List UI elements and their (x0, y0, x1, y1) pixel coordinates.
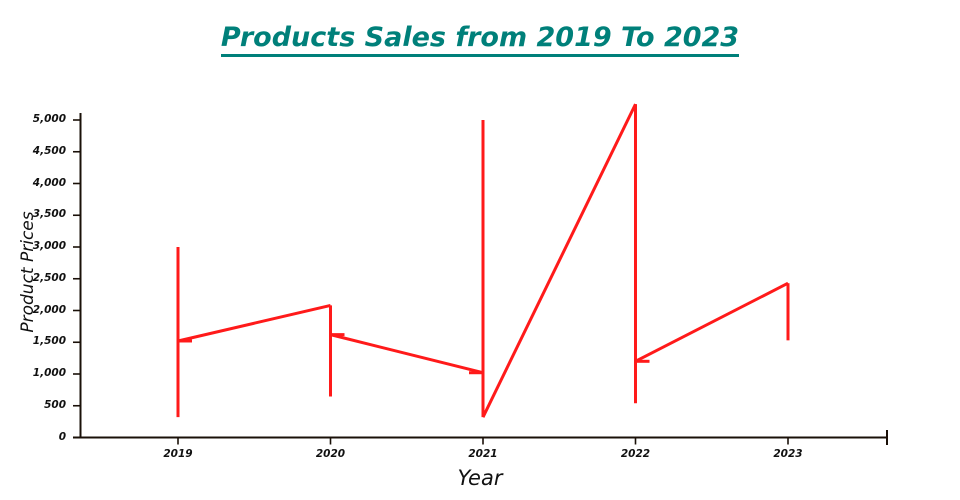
y-tick-label: 0 (10, 431, 66, 443)
data-series-bars (178, 104, 788, 417)
y-tick-label: 3,500 (10, 208, 66, 220)
y-tick-label: 1,000 (10, 367, 66, 379)
x-axis-ticks (178, 438, 788, 445)
y-tick-label: 4,000 (10, 177, 66, 189)
x-tick-label: 2020 (301, 448, 361, 460)
y-axis-ticks (73, 120, 80, 438)
y-tick-label: 2,500 (10, 272, 66, 284)
chart-plot-area (0, 0, 960, 500)
y-tick-label: 3,000 (10, 240, 66, 252)
x-tick-label: 2023 (758, 448, 818, 460)
x-tick-label: 2021 (453, 448, 513, 460)
y-tick-label: 1,500 (10, 335, 66, 347)
chart-container: Products Sales from 2019 To 2023 Product… (0, 0, 960, 500)
y-tick-label: 500 (10, 399, 66, 411)
x-tick-label: 2022 (606, 448, 666, 460)
y-tick-label: 2,000 (10, 304, 66, 316)
y-tick-label: 5,000 (10, 113, 66, 125)
axis-lines (73, 113, 888, 445)
y-tick-label: 4,500 (10, 145, 66, 157)
x-tick-label: 2019 (148, 448, 208, 460)
